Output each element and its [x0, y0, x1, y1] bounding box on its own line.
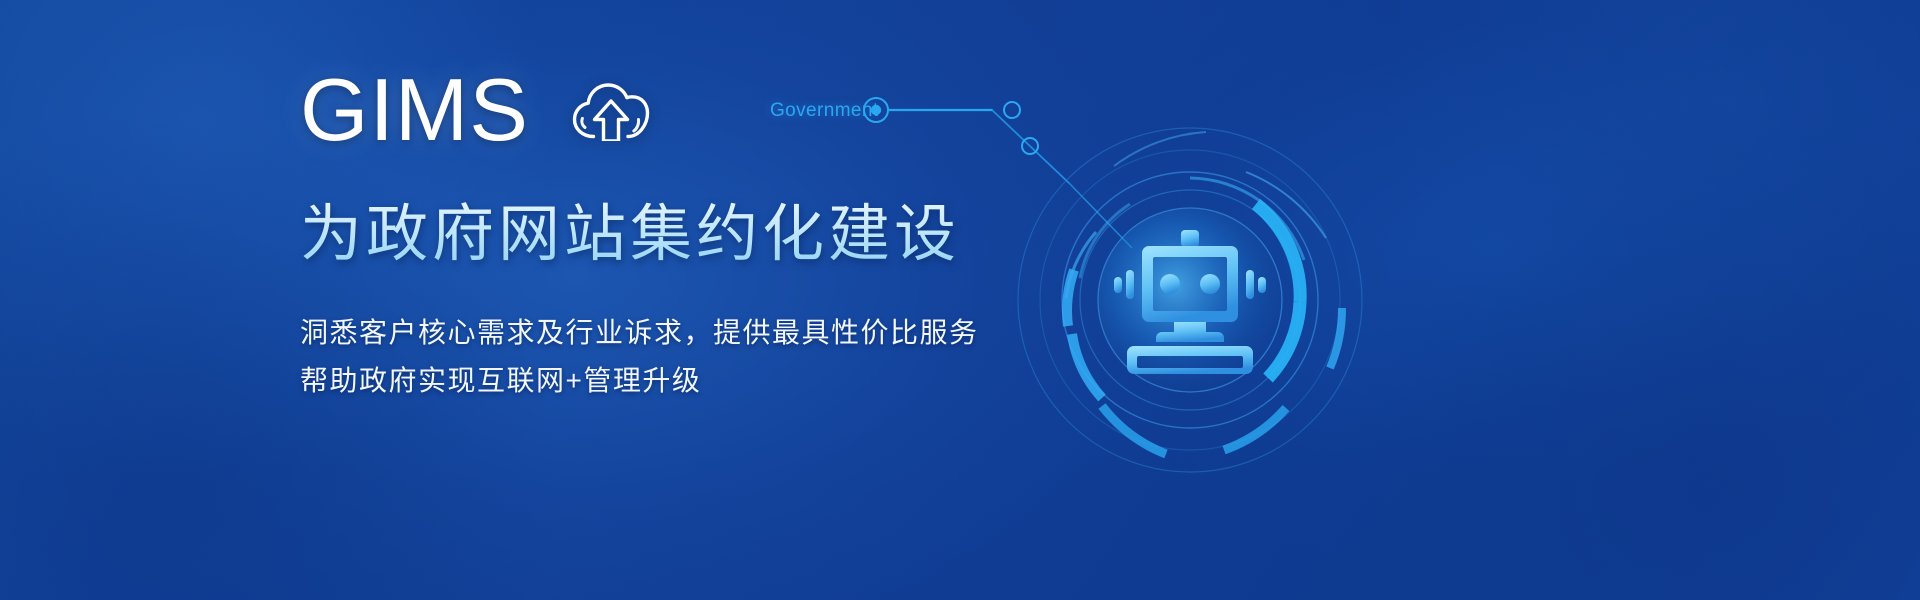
government-node-label: Government [770, 100, 879, 122]
hero-banner: GIMS 为政府网站集约化建设 洞悉客户核心需求及行业诉求，提供最具性价比服务 … [0, 0, 1920, 600]
subtitle-line-2: 帮助政府实现互联网+管理升级 [300, 357, 1120, 405]
cloud-upload-icon [569, 79, 653, 141]
tech-ring-graphic [1010, 120, 1370, 480]
background-glow-top-right [1380, 0, 1920, 440]
brand-title: GIMS [300, 66, 529, 154]
background-shadow-bottom-right [1320, 100, 1920, 600]
connector-dot-1 [1004, 102, 1020, 118]
